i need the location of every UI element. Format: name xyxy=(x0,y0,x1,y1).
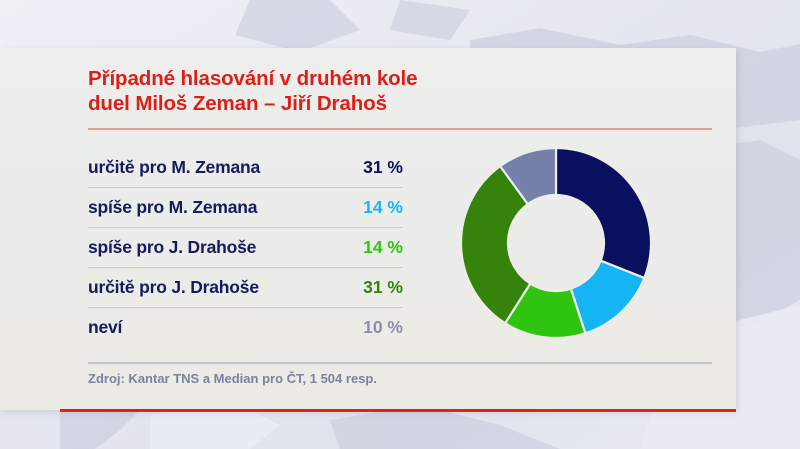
row-label: spíše pro J. Drahoše xyxy=(88,237,256,258)
row-label: neví xyxy=(88,317,122,338)
row-value: 14 % xyxy=(363,197,403,218)
title-underline xyxy=(88,128,712,130)
table-row: určitě pro M. Zemana 31 % xyxy=(88,148,403,188)
table-row: neví 10 % xyxy=(88,308,403,347)
table-row: spíše pro J. Drahoše 14 % xyxy=(88,228,403,268)
page-title: Případné hlasování v druhém kole duel Mi… xyxy=(88,66,708,116)
source-divider xyxy=(88,362,712,364)
title-line-1: Případné hlasování v druhém kole xyxy=(88,66,708,91)
row-value: 14 % xyxy=(363,237,403,258)
donut-segment xyxy=(556,148,651,278)
row-value: 31 % xyxy=(363,157,403,178)
row-label: určitě pro M. Zemana xyxy=(88,157,260,178)
table-row: určitě pro J. Drahoše 31 % xyxy=(88,268,403,308)
table-row: spíše pro M. Zemana 14 % xyxy=(88,188,403,228)
results-table: určitě pro M. Zemana 31 % spíše pro M. Z… xyxy=(88,148,403,347)
title-line-2: duel Miloš Zeman – Jiří Drahoš xyxy=(88,91,708,116)
infographic-stage: Případné hlasování v druhém kole duel Mi… xyxy=(0,0,800,449)
source-note: Zdroj: Kantar TNS a Median pro ČT, 1 504… xyxy=(88,371,377,386)
row-value: 31 % xyxy=(363,277,403,298)
donut-slices xyxy=(461,148,651,338)
donut-chart xyxy=(456,143,656,343)
row-label: spíše pro M. Zemana xyxy=(88,197,257,218)
row-value: 10 % xyxy=(363,317,403,338)
row-label: určitě pro J. Drahoše xyxy=(88,277,259,298)
panel-bottom-rule xyxy=(60,409,736,412)
